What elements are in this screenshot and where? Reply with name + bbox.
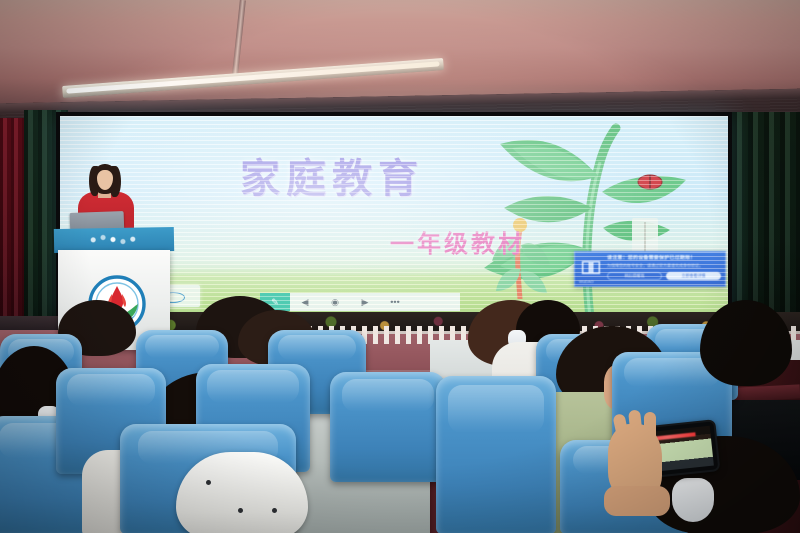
notification-headline: 请注意：您的设备需要保护已过期限！ [607, 255, 721, 261]
security-notification-popup[interactable]: 请注意：您的设备需要保护已过期限！ 为保障您的账号安全，请通过官方渠道完成身份验… [574, 251, 726, 287]
cap-button-3 [272, 508, 277, 513]
notification-text: 为保障您的账号安全，请通过官方渠道完成身份验证。 [607, 263, 721, 268]
ceiling-pipe [232, 0, 246, 74]
notification-body: 请注意：您的设备需要保护已过期限！ 为保障您的账号安全，请通过官方渠道完成身份验… [607, 255, 721, 283]
cap-button-2 [238, 508, 243, 513]
more-options-icon[interactable]: ••• [380, 293, 410, 311]
previous-slide-icon[interactable]: ◀ [290, 293, 320, 311]
podium-ornament [80, 233, 146, 245]
photographer-face-mask [672, 478, 714, 522]
slide-title: 家庭教育 [240, 146, 424, 204]
ceiling-light-left [62, 58, 444, 98]
photographer-finger-3 [644, 412, 656, 448]
next-slide-icon[interactable]: ▶ [350, 293, 380, 311]
cap-button-1 [206, 480, 211, 485]
notification-secondary-button[interactable]: 稍后提醒我 [607, 272, 662, 280]
photo-scene: 音德尔第二小学一年级家长培训会 [0, 0, 800, 533]
presenter-toolbar[interactable]: ✎ ◀ ◉ ▶ ••• [260, 293, 460, 311]
notification-buttons: 稍后提醒我 立即查看详情 [607, 272, 721, 280]
photographer-wrist [604, 486, 670, 516]
white-cap [176, 452, 308, 533]
notification-brand: WuDAO [579, 279, 594, 284]
laser-pointer-icon[interactable]: ◉ [320, 293, 350, 311]
seat-mid-4[interactable] [330, 372, 446, 482]
slide-subtitle: 一年级教材 [390, 224, 525, 259]
seat-right-1[interactable] [436, 376, 556, 533]
notification-primary-button[interactable]: 立即查看详情 [666, 272, 721, 280]
